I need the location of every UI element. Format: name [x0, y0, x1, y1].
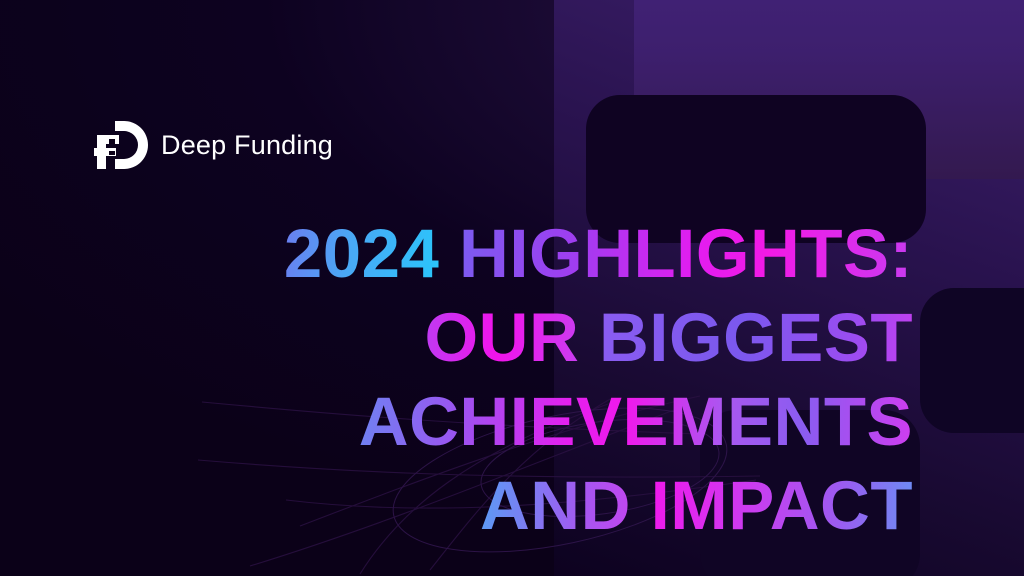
presentation-slide: Deep Funding 2024 HIGHLIGHTS: OUR BIGGES… [0, 0, 1024, 576]
deep-funding-logo-mark-icon [94, 118, 148, 172]
headline-segment-highlights: HIGHLIGHTS: [459, 215, 913, 292]
page-title: 2024 HIGHLIGHTS: OUR BIGGEST ACHIEVEMENT… [120, 212, 913, 548]
headline-line-1: 2024 HIGHLIGHTS: [120, 212, 913, 296]
headline-segment-biggest: BIGGEST [599, 299, 913, 376]
brand-logo-lockup: Deep Funding [94, 118, 333, 172]
headline-line-3: ACHIEVEMENTS [120, 380, 913, 464]
headline-line-2: OUR BIGGEST [120, 296, 913, 380]
decorative-dark-rounded-card-middle [920, 288, 1024, 433]
headline-line-4: AND IMPACT [120, 464, 913, 548]
headline-segment-our: OUR [424, 299, 579, 376]
headline-segment-impact: IMPACT [651, 467, 913, 544]
brand-name-label: Deep Funding [161, 132, 333, 159]
headline-segment-achievements: ACHIEVEMENTS [359, 383, 913, 460]
headline-segment-and: AND [480, 467, 631, 544]
headline-segment-year: 2024 [284, 215, 440, 292]
